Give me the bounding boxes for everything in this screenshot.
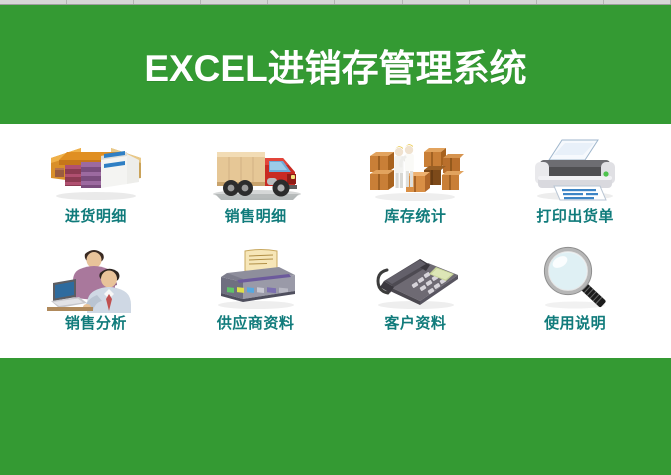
fax-machine-icon — [204, 245, 308, 311]
magnifying-glass-icon — [523, 245, 627, 311]
desk-telephone-icon — [363, 245, 467, 311]
column-header-cell — [335, 0, 402, 4]
businessmen-laptop-icon — [44, 245, 148, 311]
stock-boxes-workers-icon — [363, 136, 467, 202]
menu-item-sales-details[interactable]: 销售明细 — [176, 130, 336, 239]
menu-grid: 进货明细 — [0, 124, 671, 358]
page-title: EXCEL进销存管理系统 — [144, 50, 526, 87]
menu-panel: 进货明细 — [0, 124, 671, 358]
menu-item-print-delivery-note[interactable]: 打印出货单 — [495, 130, 655, 239]
menu-item-customer-data[interactable]: 客户资料 — [336, 239, 496, 348]
inkjet-printer-icon — [523, 136, 627, 202]
menu-item-label: 销售分析 — [65, 316, 127, 331]
menu-item-label: 客户资料 — [384, 316, 446, 331]
column-header-cell — [201, 0, 268, 4]
menu-item-label: 库存统计 — [384, 209, 446, 224]
column-header-cell — [537, 0, 604, 4]
warehouse-store-icon — [44, 136, 148, 202]
app-header: EXCEL进销存管理系统 — [0, 4, 671, 124]
menu-item-label: 供应商资料 — [217, 316, 295, 331]
column-header-cell — [134, 0, 201, 4]
column-header-cell — [268, 0, 335, 4]
menu-item-instructions[interactable]: 使用说明 — [495, 239, 655, 348]
column-header-cell — [403, 0, 470, 4]
menu-item-label: 使用说明 — [544, 316, 606, 331]
menu-item-label: 打印出货单 — [536, 209, 614, 224]
spreadsheet-column-header-strip — [0, 0, 671, 5]
delivery-truck-icon — [204, 136, 308, 202]
menu-item-supplier-data[interactable]: 供应商资料 — [176, 239, 336, 348]
column-header-cell — [0, 0, 67, 4]
menu-item-label: 进货明细 — [65, 209, 127, 224]
menu-item-inventory-stats[interactable]: 库存统计 — [336, 130, 496, 239]
menu-item-sales-analysis[interactable]: 销售分析 — [16, 239, 176, 348]
column-header-cell — [470, 0, 537, 4]
menu-item-label: 销售明细 — [225, 209, 287, 224]
column-header-cell — [604, 0, 671, 4]
menu-item-purchase-details[interactable]: 进货明细 — [16, 130, 176, 239]
column-header-cell — [67, 0, 134, 4]
footer-background — [0, 358, 671, 475]
